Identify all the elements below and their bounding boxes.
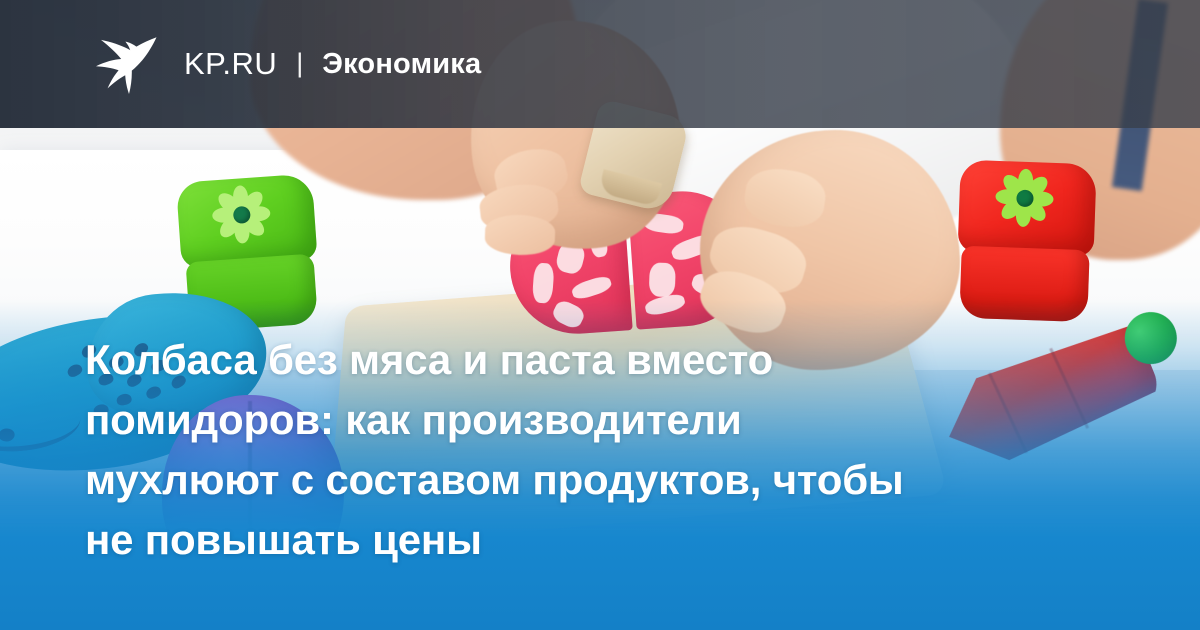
social-share-card: KP.RU | Экономика Колбаса без мяса и пас… — [0, 0, 1200, 630]
headline-line-2: помидоров: как производители — [85, 390, 1095, 450]
swallow-bird-logo-icon[interactable] — [92, 33, 158, 95]
red-pepper-flower-icon — [993, 169, 1057, 227]
section-label[interactable]: Экономика — [322, 48, 481, 81]
headline-line-4: не повышать цены — [85, 510, 1095, 570]
brand-separator: | — [296, 48, 303, 79]
finger — [484, 214, 555, 256]
brand-header: KP.RU | Экономика — [0, 0, 1200, 128]
headline-line-1: Колбаса без мяса и паста вместо — [85, 330, 1095, 390]
green-flower-icon — [208, 184, 274, 244]
brand-name[interactable]: KP.RU — [184, 46, 277, 82]
article-headline[interactable]: Колбаса без мяса и паста вместо помидоро… — [85, 330, 1095, 570]
brand-lockup: KP.RU | Экономика — [184, 46, 481, 82]
red-toy-pepper — [949, 159, 1104, 322]
headline-line-3: мухлюют с составом продуктов, чтобы — [85, 450, 1095, 510]
